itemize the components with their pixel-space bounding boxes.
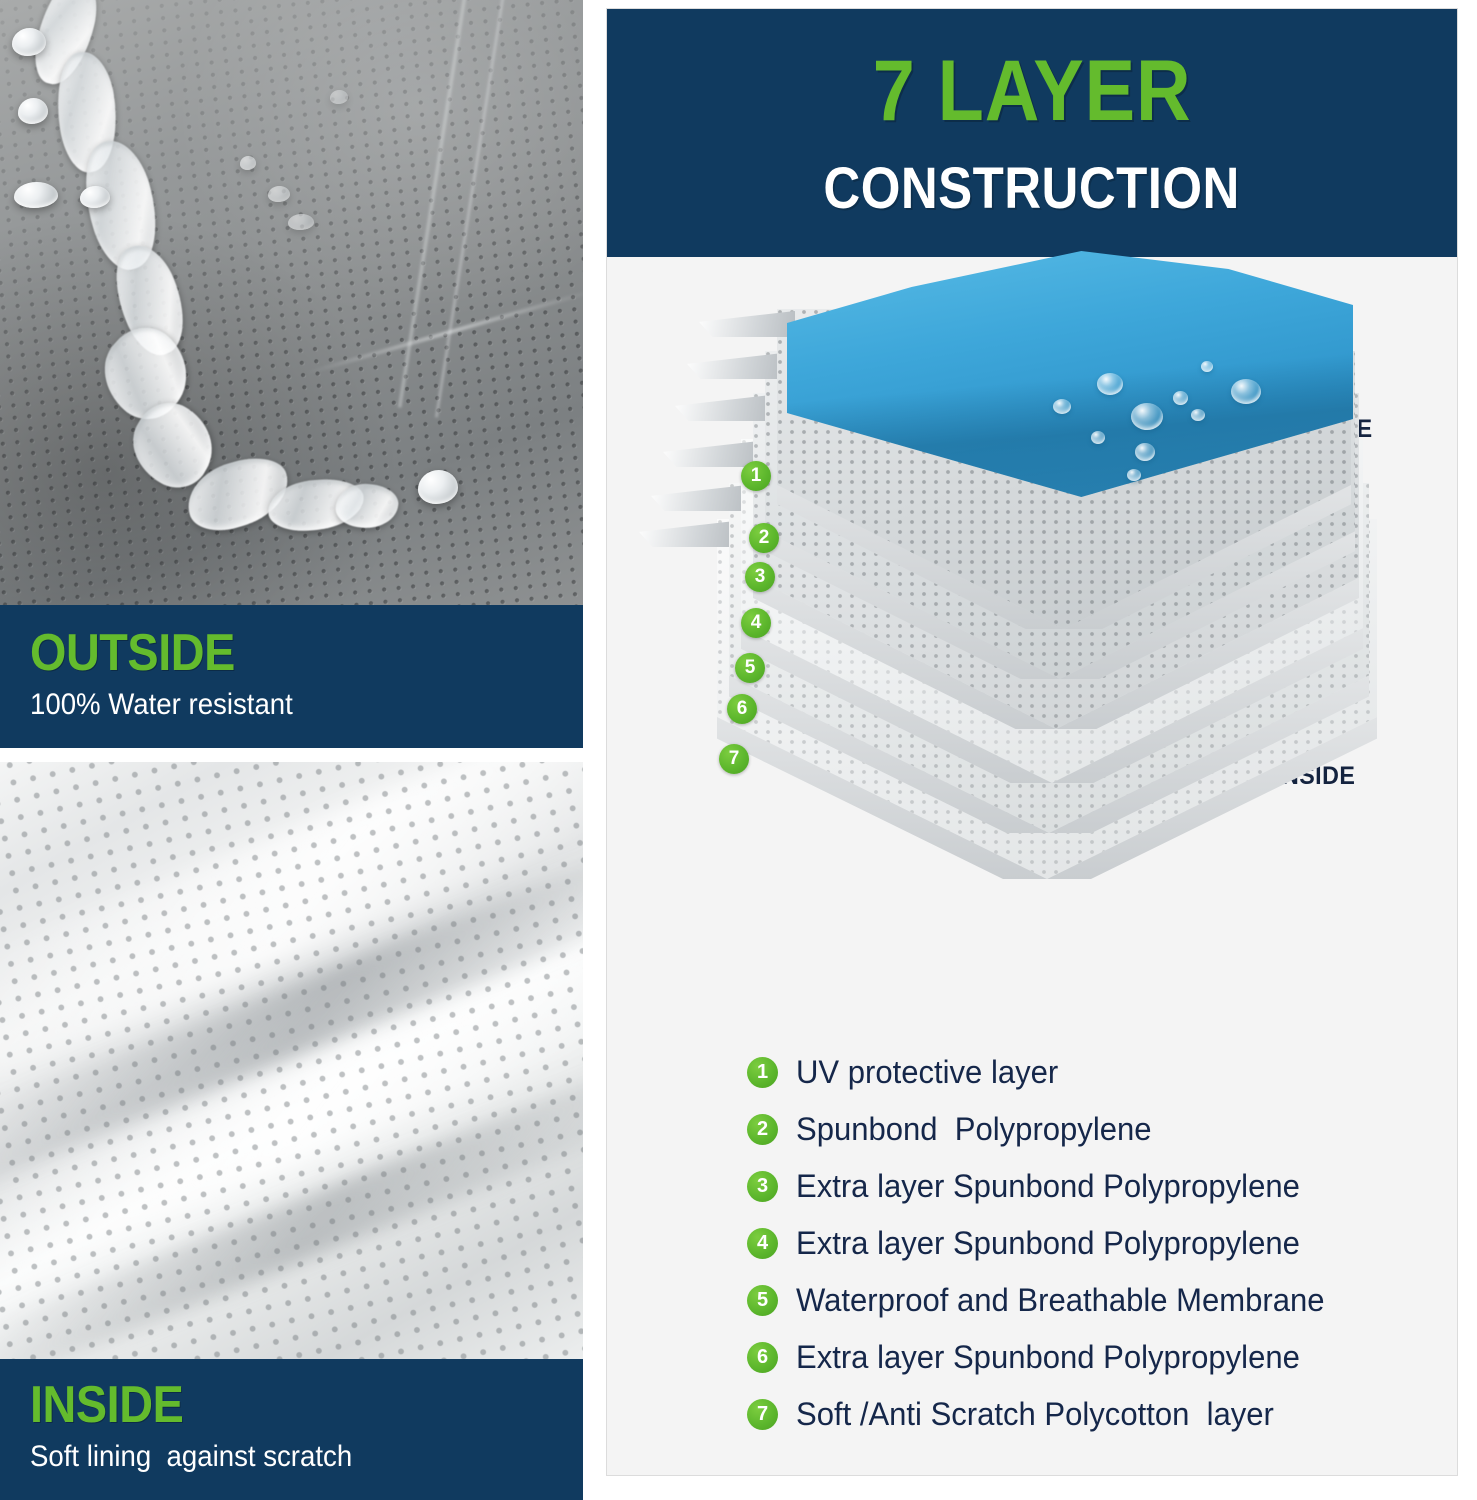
inside-caption-subtitle: Soft lining against scratch (30, 1440, 539, 1474)
layer-badge-1: 1 (741, 461, 771, 491)
headline-main: 7 LAYER (873, 48, 1192, 134)
layer-tab (687, 353, 783, 379)
legend-item: 7 Soft /Anti Scratch Polycotton layer (747, 1386, 1447, 1443)
layer-badge-4: 4 (741, 608, 771, 638)
legend-number-badge: 2 (747, 1114, 778, 1145)
legend-item: 1 UV protective layer (747, 1044, 1447, 1101)
legend-label: Extra layer Spunbond Polypropylene (796, 1225, 1300, 1262)
inside-fabric-photo (0, 762, 583, 1359)
fabric-layer-1-membrane (787, 221, 1353, 521)
outside-caption-title: OUTSIDE (30, 627, 528, 680)
fabric-layer-stack: 1 2 3 4 5 6 7 (607, 257, 1458, 1037)
legend-label: Spunbond Polypropylene (796, 1111, 1152, 1148)
legend-number-badge: 4 (747, 1228, 778, 1259)
layer-tab (699, 311, 795, 337)
legend-label: Extra layer Spunbond Polypropylene (796, 1168, 1300, 1205)
legend-item: 6 Extra layer Spunbond Polypropylene (747, 1329, 1447, 1386)
water-droplet (1231, 379, 1261, 404)
layer-tab (639, 521, 735, 547)
legend-number-badge: 5 (747, 1285, 778, 1316)
inside-caption-bar: INSIDE Soft lining against scratch (0, 1359, 583, 1500)
legend-label: Waterproof and Breathable Membrane (796, 1282, 1325, 1319)
water-droplet (1201, 361, 1213, 372)
water-droplet (1131, 403, 1163, 430)
water-droplet (1127, 469, 1141, 481)
outside-caption-subtitle: 100% Water resistant (30, 688, 539, 722)
water-droplet (1135, 443, 1155, 461)
legend-item: 2 Spunbond Polypropylene (747, 1101, 1447, 1158)
legend-label: Soft /Anti Scratch Polycotton layer (796, 1396, 1274, 1433)
water-bead (330, 90, 348, 104)
water-bead (80, 186, 110, 208)
water-droplet (1173, 391, 1188, 405)
layer-legend-list: 1 UV protective layer 2 Spunbond Polypro… (747, 1044, 1447, 1443)
layer-tab (675, 395, 771, 421)
membrane-shading (787, 221, 1353, 521)
outside-caption-bar: OUTSIDE 100% Water resistant (0, 605, 583, 748)
layer-badge-2: 2 (749, 523, 779, 553)
layer-badge-7: 7 (719, 744, 749, 774)
layer-badge-6: 6 (727, 694, 757, 724)
legend-number-badge: 3 (747, 1171, 778, 1202)
legend-item: 3 Extra layer Spunbond Polypropylene (747, 1158, 1447, 1215)
legend-number-badge: 1 (747, 1057, 778, 1088)
inside-caption-title: INSIDE (30, 1379, 528, 1432)
water-bead (240, 156, 256, 170)
legend-label: UV protective layer (796, 1054, 1058, 1091)
water-droplet (1053, 399, 1071, 414)
inside-photo-block: INSIDE Soft lining against scratch (0, 762, 583, 1500)
legend-item: 4 Extra layer Spunbond Polypropylene (747, 1215, 1447, 1272)
panel-header: 7 LAYER CONSTRUCTION (607, 9, 1457, 257)
water-bead (288, 214, 314, 230)
left-photo-column: OUTSIDE 100% Water resistant INSIDE Soft… (0, 0, 583, 1500)
construction-info-panel: 7 LAYER CONSTRUCTION (606, 8, 1458, 1476)
layer-badge-3: 3 (745, 562, 775, 592)
layer-tab (651, 485, 747, 511)
layer-stack-diagram: OUTSIDE INSIDE (607, 257, 1458, 1037)
legend-number-badge: 6 (747, 1342, 778, 1373)
water-droplet (1097, 373, 1123, 395)
outside-fabric-photo (0, 0, 583, 605)
headline-sub: CONSTRUCTION (824, 160, 1240, 218)
water-droplet (1191, 409, 1205, 421)
outside-photo-block: OUTSIDE 100% Water resistant (0, 0, 583, 748)
water-bead (268, 186, 290, 202)
layer-badge-5: 5 (735, 653, 765, 683)
legend-label: Extra layer Spunbond Polypropylene (796, 1339, 1300, 1376)
perforation-texture (0, 762, 583, 1359)
legend-item: 5 Waterproof and Breathable Membrane (747, 1272, 1447, 1329)
water-droplet (1091, 431, 1105, 444)
legend-number-badge: 7 (747, 1399, 778, 1430)
layer-tab (663, 441, 759, 467)
